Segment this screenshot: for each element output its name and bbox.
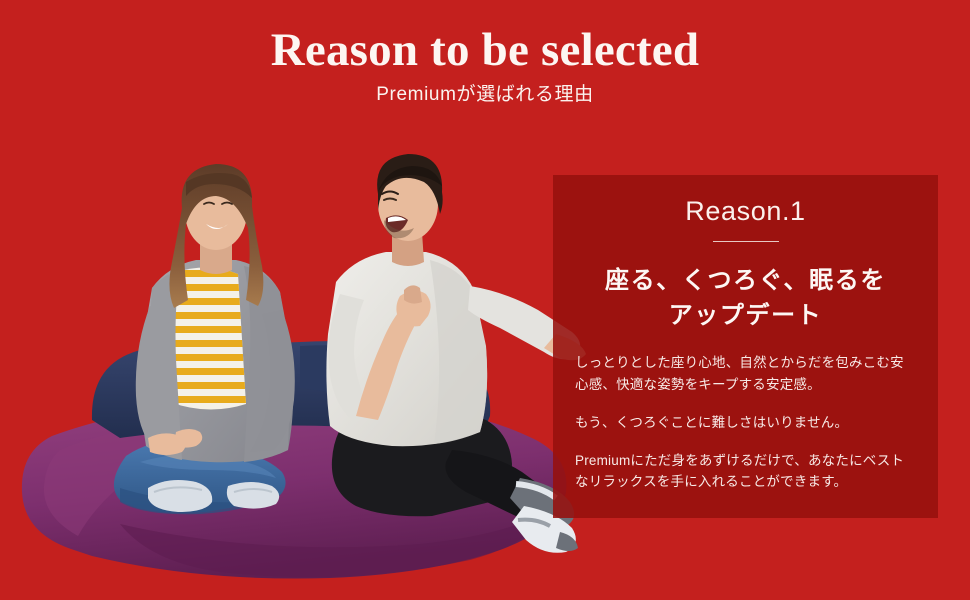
reason-card-title-line2: アップデート [669,303,823,329]
reason-card-eyebrow: Reason.1 [575,175,916,227]
reason-card-title: 座る、くつろぐ、眠るを アップデート [575,242,916,334]
man-figure [326,154,586,553]
reason-card-paragraph: もう、くつろぐことに難しさはいりません。 [575,412,916,434]
banner-header: Reason to be selected Premiumが選ばれる理由 [0,0,970,107]
page-subtitle: Premiumが選ばれる理由 [0,75,970,107]
reason-card-paragraph: しっとりとした座り心地、自然とからだを包みこむ安心感、快適な姿勢をキープする安定… [575,352,916,396]
reason-card-body: しっとりとした座り心地、自然とからだを包みこむ安心感、快適な姿勢をキープする安定… [575,334,916,493]
promo-banner: Reason to be selected Premiumが選ばれる理由 Rea… [0,0,970,600]
reason-card-title-line1: 座る、くつろぐ、眠るを [605,268,886,294]
reason-card-paragraph: Premiumにただ身をあずけるだけで、あなたにベストなリラックスを手に入れるこ… [575,450,916,494]
page-title: Reason to be selected [0,0,970,75]
reason-card: Reason.1 座る、くつろぐ、眠るを アップデート しっとりとした座り心地、… [553,175,938,518]
woman-figure [114,164,295,514]
reason-card-inner: Reason.1 座る、くつろぐ、眠るを アップデート しっとりとした座り心地、… [575,175,916,518]
